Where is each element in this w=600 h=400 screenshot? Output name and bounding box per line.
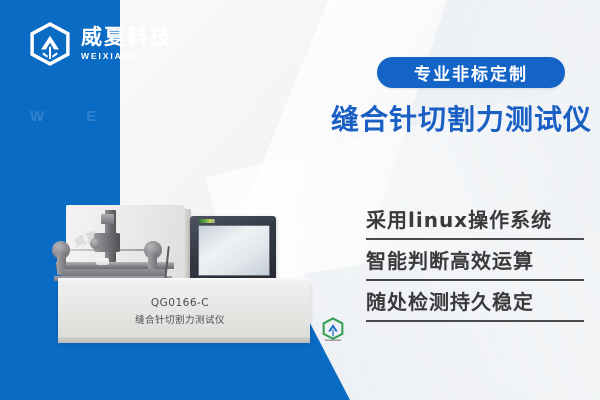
product-banner: W E I X I A K E J I 威夏科技 WEIXIAKEJI 专业非标…: [0, 0, 600, 400]
fixture-dial: [101, 214, 114, 224]
brand-name-cn: 威夏科技: [81, 27, 173, 48]
custom-service-badge: 专业非标定制: [377, 57, 565, 88]
machine-model-name: 缝合针切割力测试仪: [100, 312, 260, 326]
brand-logo: 威夏科技 WEIXIAKEJI: [28, 22, 173, 66]
brand-name-en: WEIXIAKEJI: [81, 52, 173, 61]
machine-nameplate: QG0166-C 缝合针切割力测试仪: [100, 297, 260, 326]
product-machine-image: 威夏 QG0166-C 缝合针切割力测试仪: [44, 196, 344, 351]
feature-label: 随处检测持久稳定: [366, 290, 584, 315]
feature-item: 智能判断高效运算: [366, 249, 584, 281]
feature-list: 采用linux操作系统 智能判断高效运算 随处检测持久稳定: [366, 208, 584, 331]
fixture-adjust-knob: [90, 238, 101, 249]
weixia-brand-mark-icon: [320, 316, 346, 342]
feature-divider: [366, 320, 584, 322]
feature-divider: [366, 238, 584, 240]
screen-indicator-strip: [199, 219, 215, 223]
feature-label: 采用linux操作系统: [366, 208, 584, 233]
feature-item: 随处检测持久稳定: [366, 290, 584, 322]
screen-display-area[interactable]: [198, 225, 270, 276]
fixture-specimen: [96, 258, 109, 265]
badge-label: 专业非标定制: [414, 60, 528, 85]
product-title: 缝合针切割力测试仪: [331, 98, 592, 138]
machine-base-shadow: [58, 337, 310, 343]
feature-item: 采用linux操作系统: [366, 208, 584, 240]
feature-label: 智能判断高效运算: [366, 249, 584, 274]
machine-model-number: QG0166-C: [100, 297, 260, 309]
feature-divider: [366, 279, 584, 281]
hexagon-shield-logo-icon: [28, 22, 72, 66]
